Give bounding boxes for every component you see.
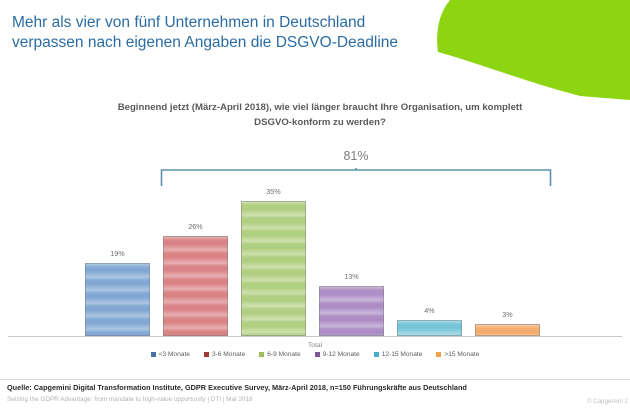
legend-item-lt3-monate[interactable]: <3 Monate	[151, 351, 190, 358]
page-title: Mehr als vier von fünf Unternehmen in De…	[12, 13, 412, 53]
bar-value-2: 26%	[163, 222, 228, 231]
legend-label: >15 Monate	[444, 351, 479, 358]
legend-label: <3 Monate	[159, 351, 190, 358]
legend-item-gt15-monate[interactable]: >15 Monate	[436, 351, 479, 358]
bar-value-1: 19%	[85, 249, 150, 258]
axis-category-label: Total	[0, 342, 630, 349]
chart-axis-baseline	[8, 336, 622, 337]
legend-item-12-15-monate[interactable]: 12-15 Monate	[374, 351, 423, 358]
bar-group: 19% 26% 35% 13% 4% 3%	[0, 176, 630, 336]
bar-value-4: 13%	[319, 272, 384, 281]
bar-value-6: 3%	[475, 310, 540, 319]
bar-3-6-monate[interactable]	[163, 236, 228, 336]
bar-12-15-monate[interactable]	[397, 320, 462, 336]
slide: Mehr als vier von fünf Unternehmen in De…	[0, 0, 630, 412]
legend-swatch-icon	[204, 352, 209, 357]
bar-gt15-monate[interactable]	[475, 324, 540, 336]
legend-item-9-12-monate[interactable]: 9-12 Monate	[315, 351, 360, 358]
legend-swatch-icon	[436, 352, 441, 357]
bar-value-3: 35%	[241, 187, 306, 196]
green-wedge-decoration	[400, 0, 630, 100]
legend-swatch-icon	[151, 352, 156, 357]
copyright-note: © Capgemini 2	[587, 398, 628, 405]
bar-lt3-monate[interactable]	[85, 263, 150, 336]
legend-label: 6-9 Monate	[267, 351, 300, 358]
legend-swatch-icon	[259, 352, 264, 357]
legend-swatch-icon	[374, 352, 379, 357]
legend-label: 12-15 Monate	[382, 351, 423, 358]
bar-9-12-monate[interactable]	[319, 286, 384, 336]
legend-label: 3-6 Monate	[212, 351, 245, 358]
chart-question: Beginnend jetzt (März-April 2018), wie v…	[110, 100, 530, 130]
bar-6-9-monate[interactable]	[241, 201, 306, 336]
report-reference: Seizing the GDPR Advantage: from mandate…	[7, 396, 253, 403]
legend-swatch-icon	[315, 352, 320, 357]
legend-label: 9-12 Monate	[323, 351, 360, 358]
chart-legend: <3 Monate 3-6 Monate 6-9 Monate 9-12 Mon…	[0, 351, 630, 358]
legend-item-6-9-monate[interactable]: 6-9 Monate	[259, 351, 300, 358]
source-note: Quelle: Capgemini Digital Transformation…	[7, 383, 467, 392]
legend-item-3-6-monate[interactable]: 3-6 Monate	[204, 351, 245, 358]
chart-plot-area: 81% 19% 26% 35% 13% 4	[0, 140, 630, 345]
bar-value-5: 4%	[397, 306, 462, 315]
bracket-total-label: 81%	[306, 149, 406, 163]
footer-divider	[0, 379, 630, 380]
